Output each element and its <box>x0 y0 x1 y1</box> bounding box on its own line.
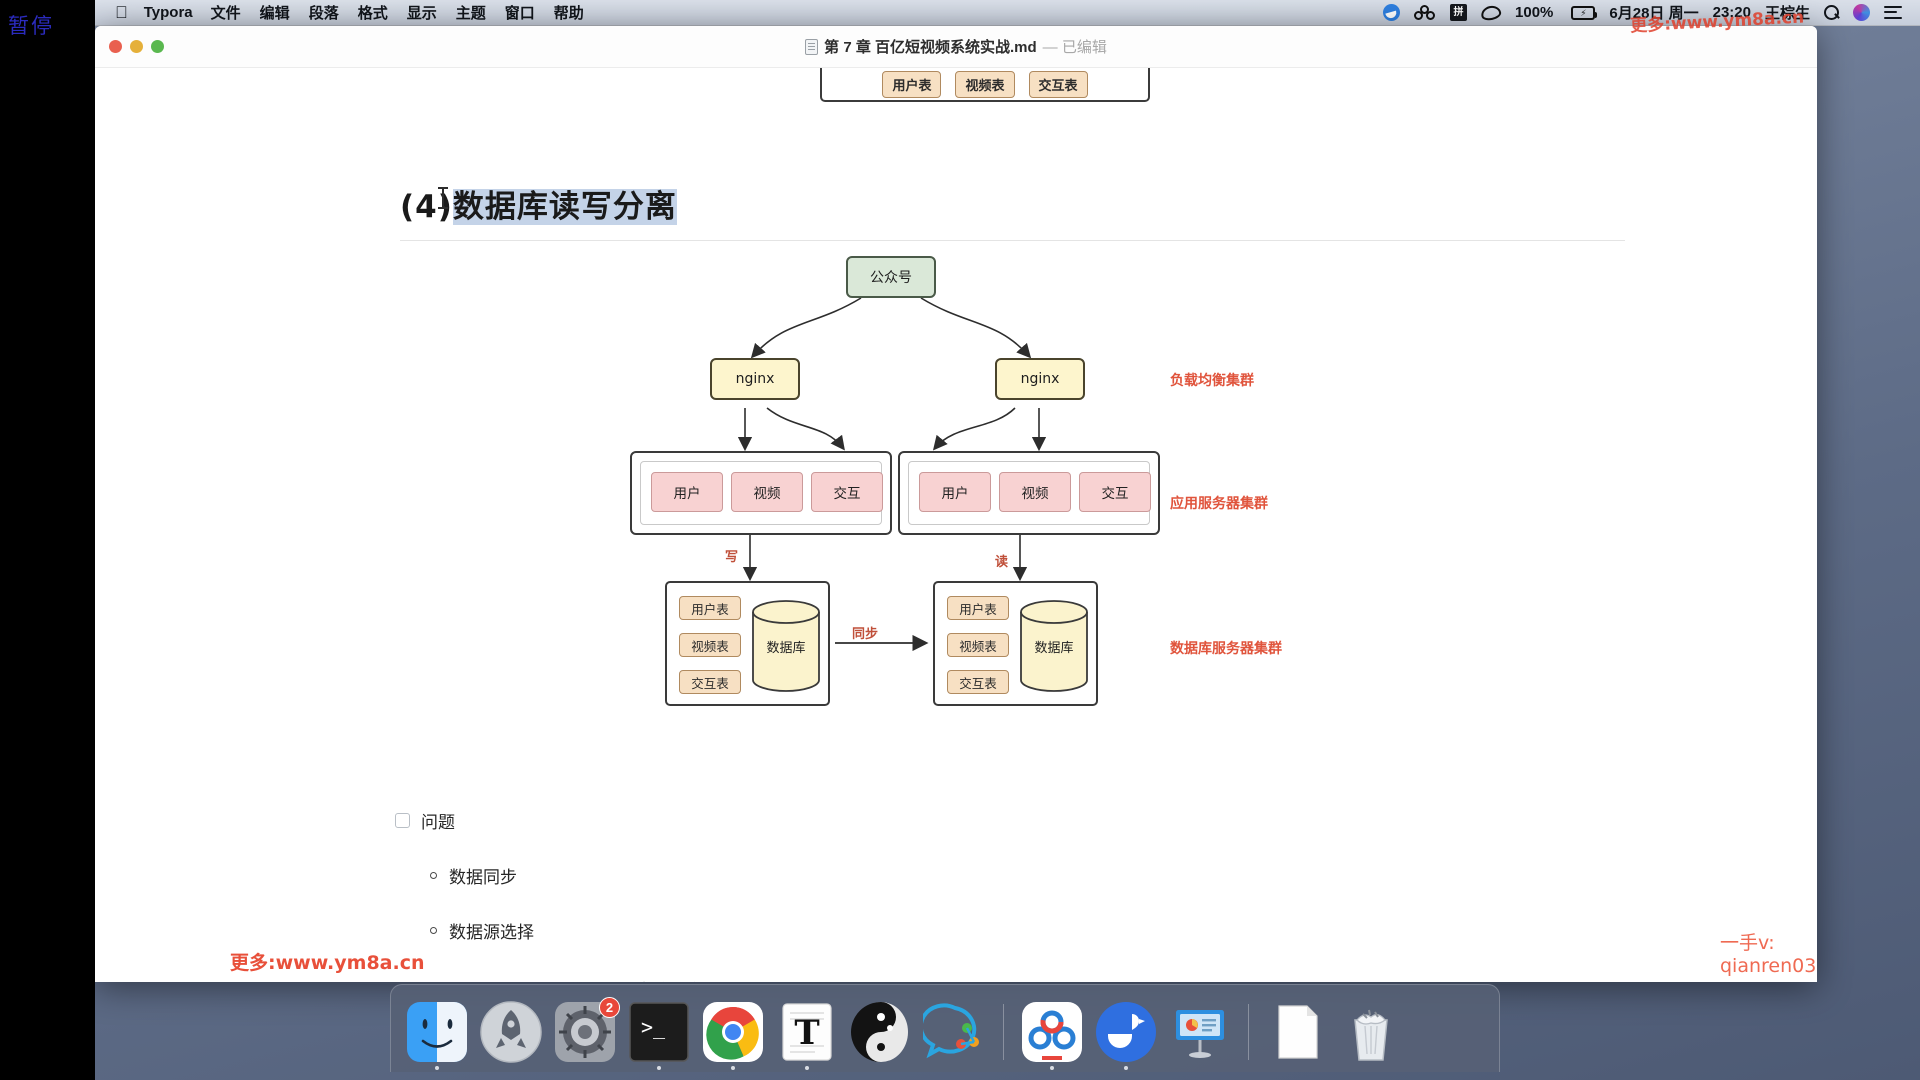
dock-item-keynote[interactable] <box>1168 1000 1232 1064</box>
control-center-icon[interactable] <box>1884 6 1902 20</box>
running-indicator <box>1050 1066 1054 1070</box>
db-chip-user-table-right[interactable]: 用户表 <box>947 596 1009 620</box>
edge-label-sync: 同步 <box>852 623 878 642</box>
app-server-group-left: 用户 视频 交互 <box>630 451 892 535</box>
node-nginx-left[interactable]: nginx <box>710 358 800 400</box>
dock-separator <box>1003 1004 1004 1060</box>
heading-rule-divider <box>400 240 1625 241</box>
remnant-chip-user-table: 用户表 <box>882 71 941 98</box>
node-nginx-left-label: nginx <box>736 371 775 387</box>
list-item-datasource-select-label: 数据源选择 <box>449 918 534 943</box>
markdown-file-icon <box>805 39 818 55</box>
wechat-devtool-icon <box>923 1000 987 1064</box>
launchpad-icon <box>479 1000 543 1064</box>
app-server-inner-right: 用户 视频 交互 <box>908 461 1150 525</box>
annotation-load-balance: 负载均衡集群 <box>1170 370 1254 390</box>
remnant-chip-interaction-table: 交互表 <box>1029 71 1088 98</box>
database-cylinder-left-label: 数据库 <box>750 599 822 693</box>
menu-item-paragraph[interactable]: 段落 <box>309 2 339 23</box>
app-box-user-right-label: 用户 <box>942 482 969 502</box>
typora-window: 第 7 章 百亿短视频系统实战.md — 已编辑 用户表 视频表 交互表 (4)… <box>95 26 1817 982</box>
dock-separator <box>1248 1004 1249 1060</box>
running-indicator <box>805 1066 809 1070</box>
document-title: 第 7 章 百亿短视频系统实战.md — 已编辑 <box>95 36 1817 57</box>
apple-logo-icon[interactable]:  <box>115 4 128 21</box>
dock-item-finder[interactable] <box>405 1000 469 1064</box>
screen-root: 暂停  Typora 文件 编辑 段落 格式 显示 主题 窗口 帮助 拼 10… <box>0 0 1920 1080</box>
search-icon[interactable] <box>1824 5 1839 20</box>
menu-app-name[interactable]: Typora <box>144 4 193 21</box>
db-chip-video-table-right-label: 视频表 <box>959 636 997 655</box>
moon-circle-icon[interactable] <box>1383 4 1400 21</box>
menu-item-window[interactable]: 窗口 <box>505 2 535 23</box>
cloud-sync-icon[interactable] <box>1414 5 1436 21</box>
text-caret <box>442 187 444 209</box>
dock-item-google-chrome[interactable] <box>701 1000 765 1064</box>
node-nginx-right[interactable]: nginx <box>995 358 1085 400</box>
app-box-video-left[interactable]: 视频 <box>731 472 803 512</box>
siri-icon[interactable] <box>1853 4 1870 21</box>
db-chip-video-table-right[interactable]: 视频表 <box>947 633 1009 657</box>
task-checkbox[interactable] <box>395 813 410 828</box>
typora-icon: T <box>775 1000 839 1064</box>
document-stack-icon <box>1265 1000 1329 1064</box>
document-body[interactable]: 用户表 视频表 交互表 (4)数据库读写分离 <box>95 68 1817 982</box>
yin-yang-icon <box>849 1000 913 1064</box>
db-chip-interaction-table-left-label: 交互表 <box>691 673 729 692</box>
menu-bar:  Typora 文件 编辑 段落 格式 显示 主题 窗口 帮助 拼 100% … <box>95 0 1920 26</box>
running-indicator <box>435 1066 439 1070</box>
app-box-interaction-right[interactable]: 交互 <box>1079 472 1151 512</box>
window-titlebar: 第 7 章 百亿短视频系统实战.md — 已编辑 <box>95 26 1817 68</box>
app-server-group-right: 用户 视频 交互 <box>898 451 1160 535</box>
chrome-icon <box>701 1000 765 1064</box>
running-indicator <box>731 1066 735 1070</box>
document-edited-state: — 已编辑 <box>1043 36 1107 57</box>
app-box-user-left[interactable]: 用户 <box>651 472 723 512</box>
keynote-icon <box>1168 1000 1232 1064</box>
dock-item-trash[interactable] <box>1339 1000 1403 1064</box>
terminal-icon: >_ <box>627 1000 691 1064</box>
heading-4-text: 数据库读写分离 <box>453 189 677 225</box>
previous-diagram-remnant: 用户表 视频表 交互表 <box>820 68 1150 102</box>
duck-icon <box>1094 1000 1158 1064</box>
watermark-left: 更多:www.ym8a.cn <box>230 948 425 975</box>
running-indicator <box>657 1066 661 1070</box>
db-chip-interaction-table-left[interactable]: 交互表 <box>679 670 741 694</box>
db-chip-user-table-left[interactable]: 用户表 <box>679 596 741 620</box>
database-server-right: 用户表 视频表 交互表 数据库 <box>933 581 1098 706</box>
finder-icon <box>405 1000 469 1064</box>
document-content: 用户表 视频表 交互表 (4)数据库读写分离 <box>95 68 1817 982</box>
architecture-diagram: 公众号 nginx nginx 用户 视频 交互 <box>95 248 1817 778</box>
app-box-interaction-left[interactable]: 交互 <box>811 472 883 512</box>
dock-item-baidu-netdisk[interactable] <box>1020 1000 1084 1064</box>
bullet-circle-icon <box>430 872 437 879</box>
baidu-netdisk-icon <box>1020 1000 1084 1064</box>
task-list: 问题 数据同步 数据源选择 <box>95 808 1817 943</box>
list-item-data-sync[interactable]: 数据同步 <box>430 863 1817 888</box>
dock-item-neteasemusic[interactable] <box>849 1000 913 1064</box>
dock-item-wechat-dev[interactable] <box>923 1000 987 1064</box>
menu-user-label[interactable]: 王棕生 <box>1765 2 1810 23</box>
bullet-circle-icon <box>430 927 437 934</box>
db-chip-user-table-right-label: 用户表 <box>959 599 997 618</box>
menu-item-file[interactable]: 文件 <box>211 2 241 23</box>
menu-item-format[interactable]: 格式 <box>358 2 388 23</box>
edge-label-read: 读 <box>995 551 1008 570</box>
annotation-app-servers: 应用服务器集群 <box>1170 493 1268 513</box>
dock-item-terminal[interactable]: >_ <box>627 1000 691 1064</box>
menu-item-help[interactable]: 帮助 <box>554 2 584 23</box>
db-chip-user-table-left-label: 用户表 <box>691 599 729 618</box>
dock-item-documents-stack[interactable] <box>1265 1000 1329 1064</box>
app-server-inner-left: 用户 视频 交互 <box>640 461 882 525</box>
app-box-user-right[interactable]: 用户 <box>919 472 991 512</box>
pause-overlay-label: 暂停 <box>8 10 54 40</box>
app-box-user-left-label: 用户 <box>674 482 701 502</box>
document-title-text: 第 7 章 百亿短视频系统实战.md <box>824 36 1037 57</box>
list-item-data-sync-label: 数据同步 <box>449 863 517 888</box>
dock-item-launchpad[interactable] <box>479 1000 543 1064</box>
app-box-interaction-right-label: 交互 <box>1102 482 1129 502</box>
eye-icon[interactable] <box>1481 6 1501 20</box>
database-cylinder-right-label: 数据库 <box>1018 599 1090 693</box>
running-indicator <box>1124 1066 1128 1070</box>
dock-item-typora[interactable]: T <box>775 1000 839 1064</box>
remnant-chip-video-table: 视频表 <box>955 71 1014 98</box>
app-box-video-left-label: 视频 <box>754 482 781 502</box>
database-server-left: 用户表 视频表 交互表 数据库 <box>665 581 830 706</box>
edge-label-write: 写 <box>725 546 738 565</box>
database-cylinder-right: 数据库 <box>1018 599 1090 693</box>
watermark-right: 一手v: qianren03 <box>1720 928 1817 977</box>
page-title-section-5[interactable]: (5) 引入搜索引擎缓解读压力 <box>400 973 817 982</box>
trash-icon <box>1339 1000 1403 1064</box>
menu-time-label[interactable]: 23:20 <box>1713 4 1751 21</box>
pinyin-input-icon[interactable]: 拼 <box>1450 4 1467 21</box>
list-item-datasource-select[interactable]: 数据源选择 <box>430 918 1817 943</box>
app-box-video-right[interactable]: 视频 <box>999 472 1071 512</box>
svg-text:>_: >_ <box>641 1015 666 1039</box>
annotation-db-servers: 数据库服务器集群 <box>1170 638 1282 658</box>
db-chip-interaction-table-right[interactable]: 交互表 <box>947 670 1009 694</box>
dock-item-duck-app[interactable] <box>1094 1000 1158 1064</box>
node-official-account-label: 公众号 <box>870 267 912 287</box>
menu-item-edit[interactable]: 编辑 <box>260 2 290 23</box>
svg-text:T: T <box>794 1013 819 1053</box>
task-list-item-problem[interactable]: 问题 <box>395 808 1817 833</box>
notification-badge: 2 <box>599 997 620 1018</box>
task-label-problem: 问题 <box>421 808 455 833</box>
dock: 2 >_ <box>390 984 1500 1072</box>
db-chip-video-table-left-label: 视频表 <box>691 636 729 655</box>
dock-item-system-preferences[interactable]: 2 <box>553 1000 617 1064</box>
db-chip-video-table-left[interactable]: 视频表 <box>679 633 741 657</box>
menu-date-label[interactable]: 6月28日 周一 <box>1609 2 1698 23</box>
node-official-account[interactable]: 公众号 <box>846 256 936 298</box>
database-cylinder-left: 数据库 <box>750 599 822 693</box>
node-nginx-right-label: nginx <box>1021 371 1060 387</box>
menu-item-theme[interactable]: 主题 <box>456 2 486 23</box>
app-box-interaction-left-label: 交互 <box>834 482 861 502</box>
menu-item-view[interactable]: 显示 <box>407 2 437 23</box>
app-box-video-right-label: 视频 <box>1022 482 1049 502</box>
battery-icon[interactable]: ⚡ <box>1567 6 1595 20</box>
db-chip-interaction-table-right-label: 交互表 <box>959 673 997 692</box>
battery-percent-label[interactable]: 100% <box>1515 4 1553 21</box>
